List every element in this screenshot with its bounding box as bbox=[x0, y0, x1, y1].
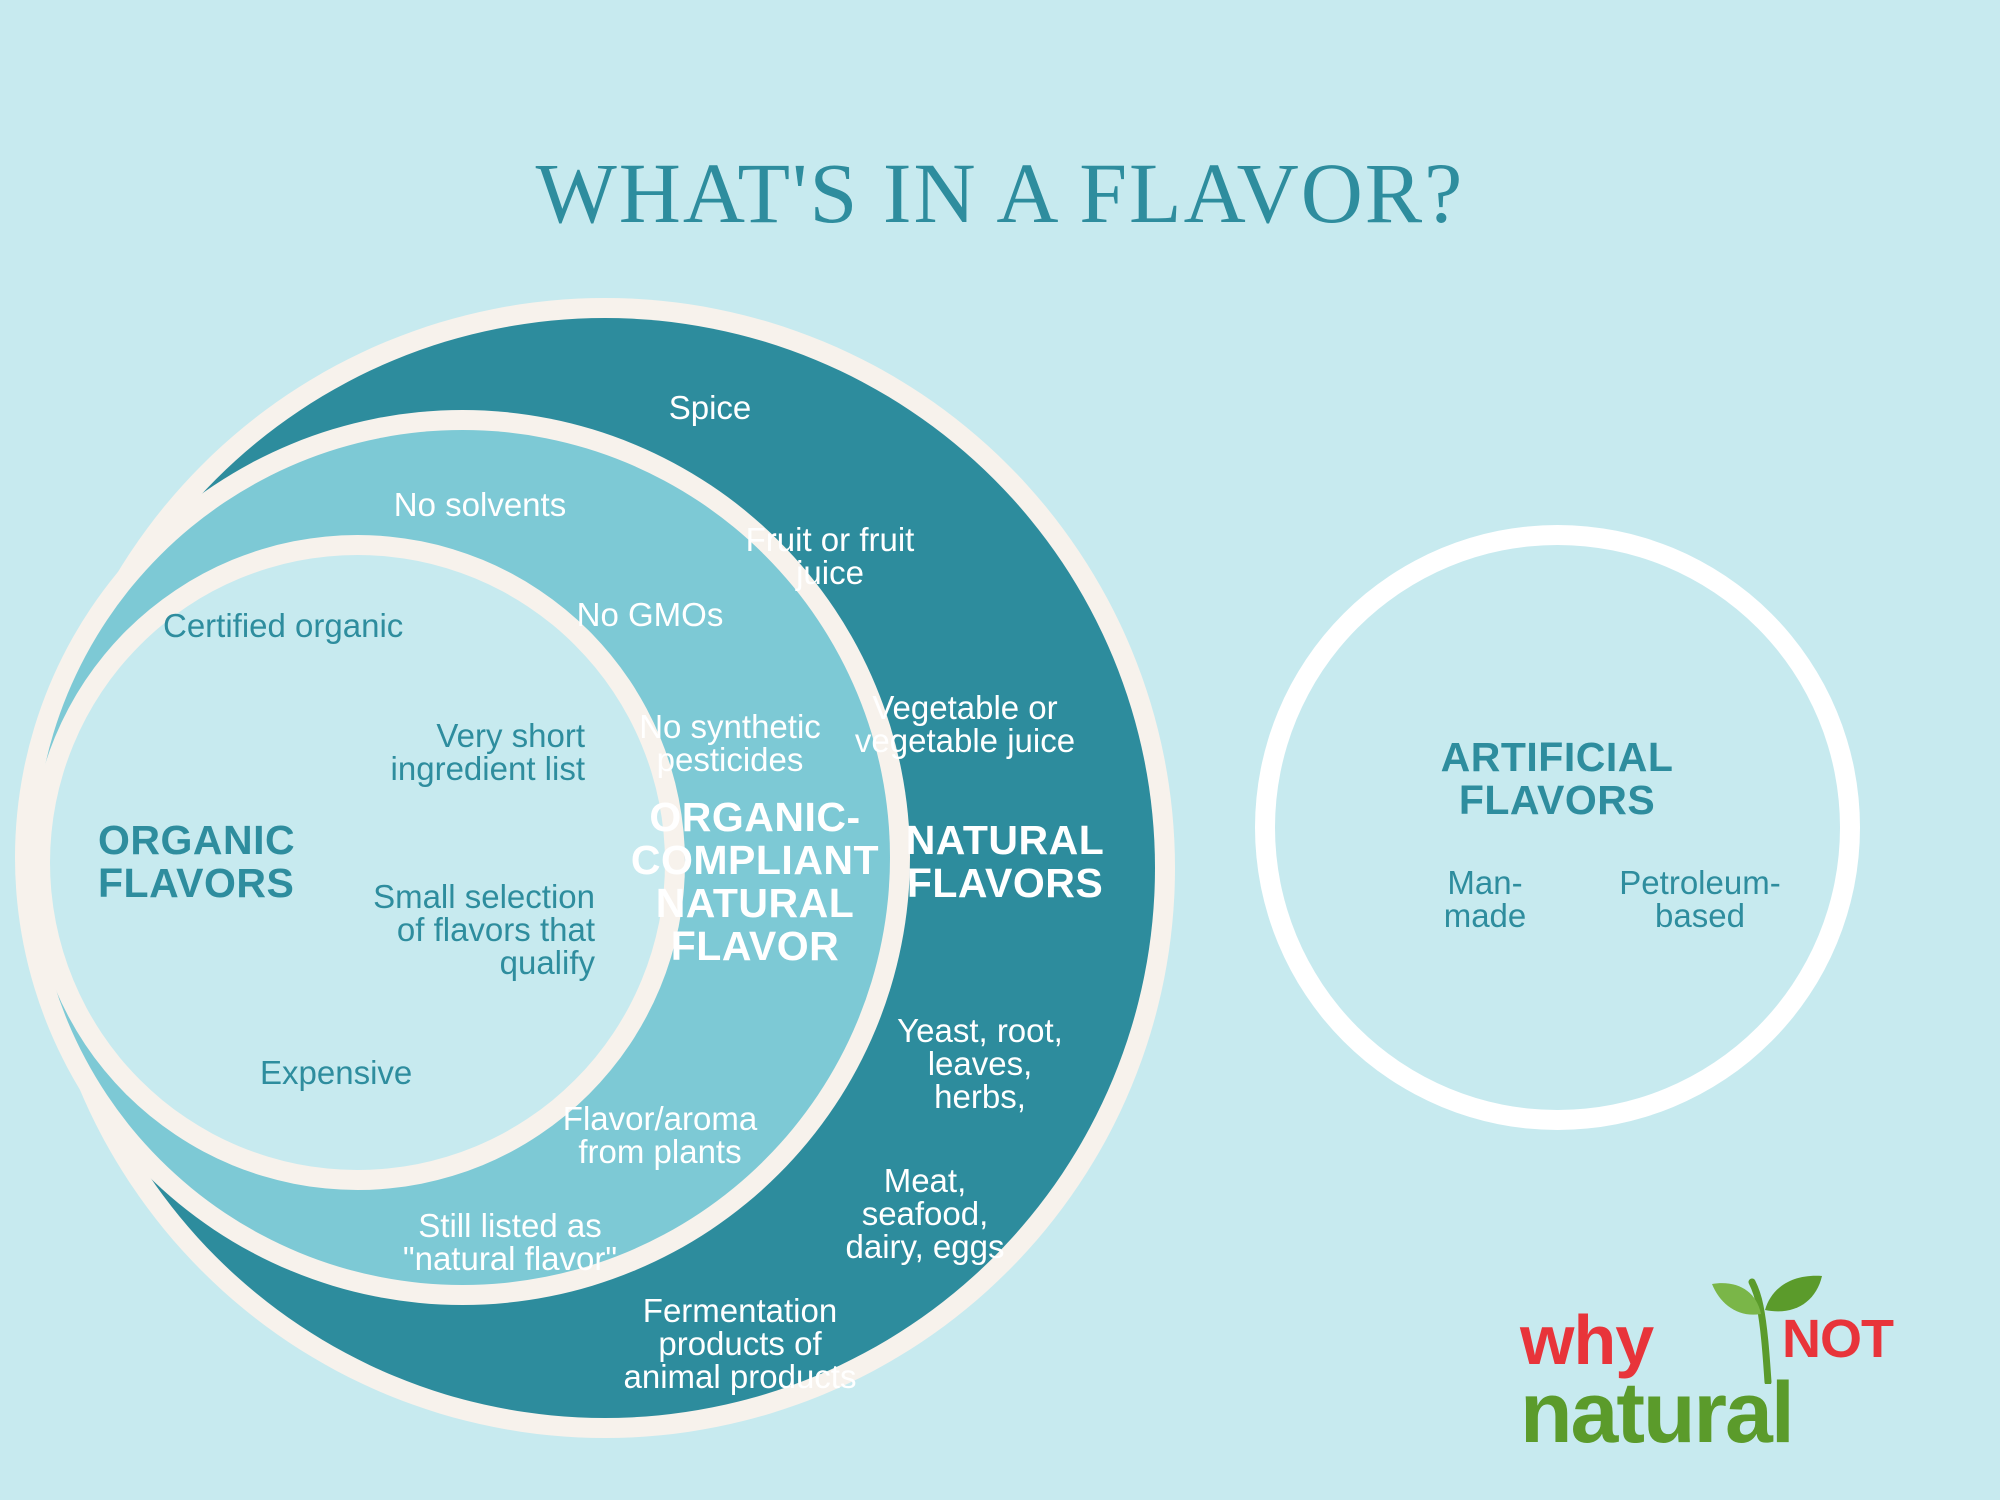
infographic-canvas: WHAT'S IN A FLAVOR? Spice Fruit or fruit… bbox=[0, 0, 2000, 1500]
page-title: WHAT'S IN A FLAVOR? bbox=[0, 150, 2000, 236]
organic-flavors-item-expensive: Expensive bbox=[260, 1055, 560, 1091]
organic-compliant-item-flavor-aroma-line2: from plants bbox=[500, 1134, 820, 1170]
organic-compliant-item-no-solvents: No solvents bbox=[330, 487, 630, 523]
artificial-flavors-heading-line1: ARTIFICIAL bbox=[1392, 735, 1722, 779]
natural-flavors-item-fermentation-line2: products of bbox=[500, 1326, 980, 1362]
organic-flavors-item-certified-organic: Certified organic bbox=[163, 608, 523, 644]
organic-flavors-item-small-selection-line3: qualify bbox=[225, 945, 595, 981]
artificial-flavors-heading-line2: FLAVORS bbox=[1392, 778, 1722, 822]
organic-compliant-heading-line2: COMPLIANT bbox=[625, 838, 885, 882]
natural-flavors-item-spice: Spice bbox=[600, 390, 820, 426]
organic-flavors-item-small-selection-line1: Small selection bbox=[225, 879, 595, 915]
natural-flavors-item-fermentation-line3: animal products bbox=[500, 1359, 980, 1395]
artificial-flavors-item-man-made-line2: made bbox=[1405, 898, 1565, 934]
natural-flavors-item-fermentation-line1: Fermentation bbox=[500, 1293, 980, 1329]
organic-compliant-item-no-gmos: No GMOs bbox=[530, 597, 770, 633]
organic-compliant-heading-line1: ORGANIC- bbox=[625, 795, 885, 839]
organic-compliant-item-still-listed-line2: "natural flavor" bbox=[330, 1241, 690, 1277]
brand-logo: why NOT natural bbox=[1520, 1300, 1940, 1470]
natural-flavors-item-yeast-line3: herbs, bbox=[850, 1079, 1110, 1115]
organic-compliant-heading-line3: NATURAL bbox=[625, 881, 885, 925]
natural-flavors-item-yeast-line2: leaves, bbox=[850, 1046, 1110, 1082]
organic-compliant-item-pesticides-line1: No synthetic bbox=[575, 709, 885, 745]
natural-flavors-item-meat-line3: dairy, eggs bbox=[790, 1229, 1060, 1265]
organic-flavors-item-very-short-line1: Very short bbox=[245, 718, 585, 754]
natural-flavors-item-yeast-line1: Yeast, root, bbox=[850, 1013, 1110, 1049]
organic-compliant-item-flavor-aroma-line1: Flavor/aroma bbox=[500, 1101, 820, 1137]
natural-flavors-item-meat-line2: seafood, bbox=[790, 1196, 1060, 1232]
organic-compliant-heading-line4: FLAVOR bbox=[625, 924, 885, 968]
natural-flavors-item-meat-line1: Meat, bbox=[790, 1163, 1060, 1199]
organic-flavors-item-small-selection-line2: of flavors that bbox=[225, 912, 595, 948]
circle-artificial-flavors bbox=[1275, 545, 1840, 1110]
artificial-flavors-item-petroleum-line1: Petroleum- bbox=[1575, 865, 1825, 901]
organic-compliant-item-still-listed-line1: Still listed as bbox=[330, 1208, 690, 1244]
organic-compliant-item-pesticides-line2: pesticides bbox=[575, 742, 885, 778]
natural-flavors-heading-line1: NATURAL bbox=[865, 818, 1145, 862]
natural-flavors-item-fruit-line1: Fruit or fruit bbox=[680, 522, 980, 558]
natural-flavors-heading-line2: FLAVORS bbox=[865, 861, 1145, 905]
organic-flavors-item-very-short-line2: ingredient list bbox=[245, 751, 585, 787]
artificial-flavors-item-petroleum-line2: based bbox=[1575, 898, 1825, 934]
logo-natural-text: natural bbox=[1520, 1364, 1793, 1463]
natural-flavors-item-fruit-line2: juice bbox=[680, 555, 980, 591]
organic-flavors-heading-line1: ORGANIC bbox=[98, 818, 398, 862]
artificial-flavors-item-man-made-line1: Man- bbox=[1405, 865, 1565, 901]
